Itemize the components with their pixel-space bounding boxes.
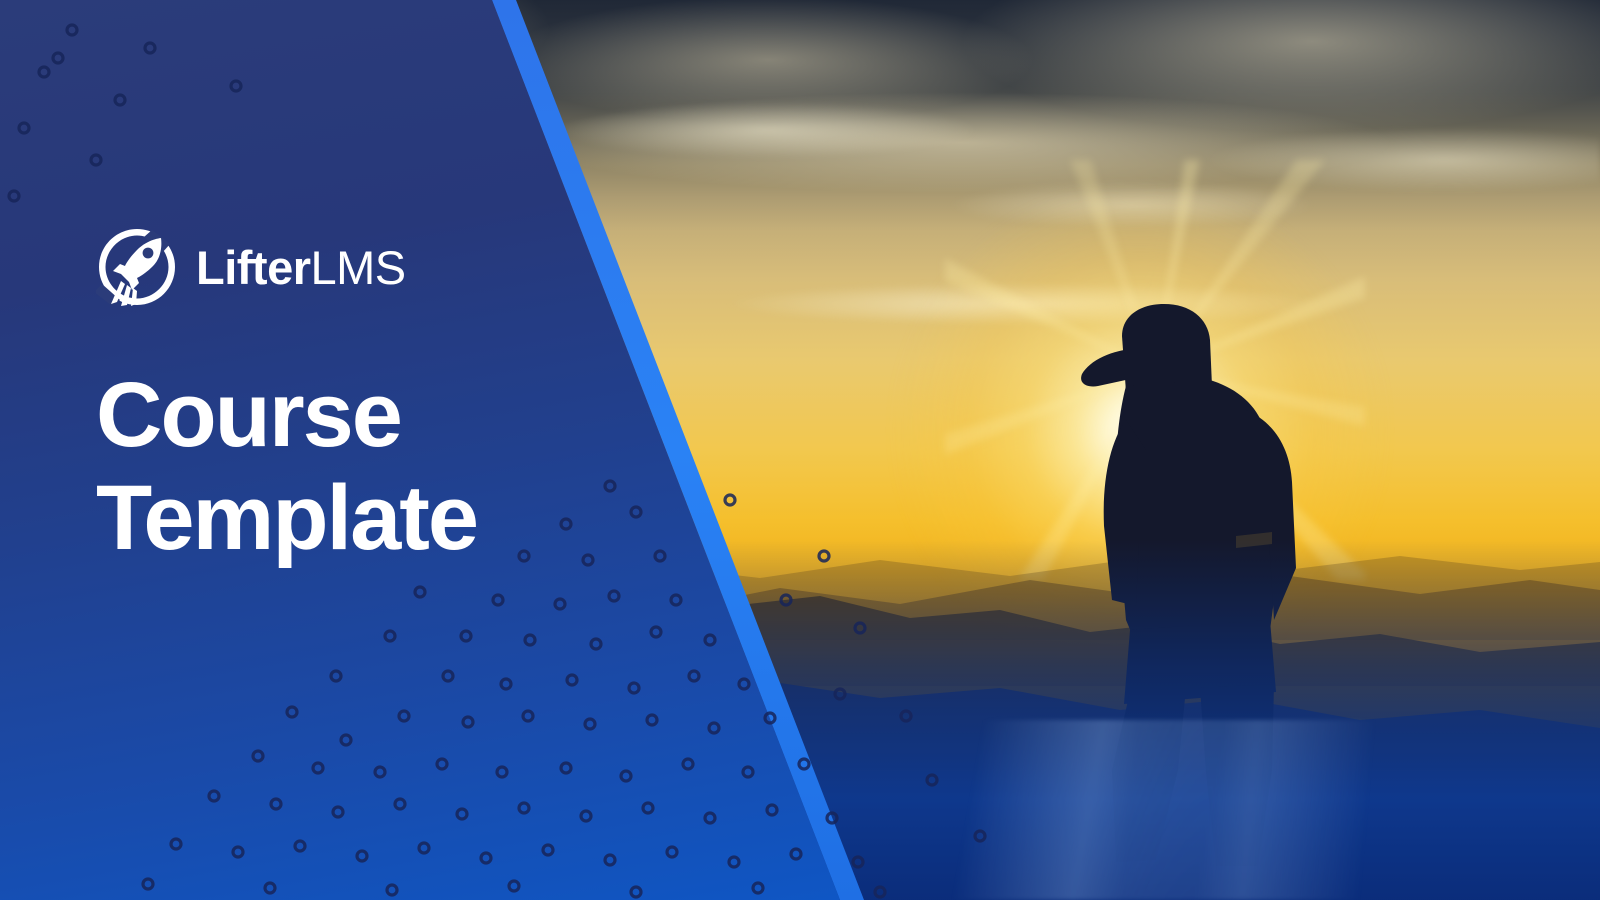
rocket-in-circle-icon xyxy=(96,226,178,308)
course-template-banner: LifterLMS Course Template xyxy=(0,0,1600,900)
brand-name-bold: Lifter xyxy=(196,241,311,294)
page-title: Course Template xyxy=(96,364,616,570)
headline-line-1: Course xyxy=(96,364,616,467)
headline-line-2: Template xyxy=(96,467,616,570)
banner-content: LifterLMS Course Template xyxy=(96,226,616,570)
brand-wordmark: LifterLMS xyxy=(196,244,406,291)
brand-name-light: LMS xyxy=(311,241,406,294)
brand-logo: LifterLMS xyxy=(96,226,616,308)
snow-streaks xyxy=(820,720,1600,900)
